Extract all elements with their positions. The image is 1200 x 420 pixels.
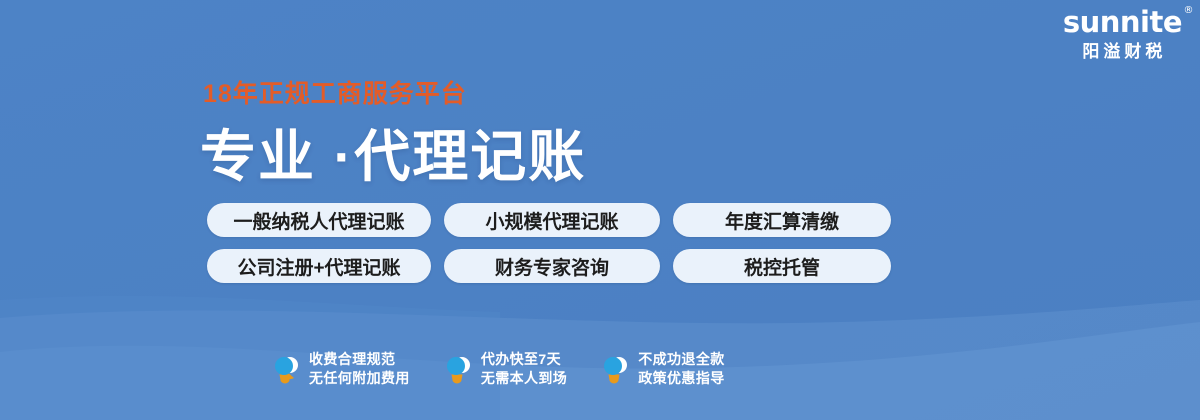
service-pill-row: 公司注册+代理记账 财务专家咨询 税控托管 xyxy=(207,249,904,283)
logo-wordmark-text: sunnite xyxy=(1063,5,1182,39)
feature-line-1: 代办快至7天 xyxy=(481,350,567,369)
feature-line-1: 不成功退全款 xyxy=(638,350,724,369)
hero-headline: 专业 ·代理记账 xyxy=(200,112,586,193)
feature-line-1: 收费合理规范 xyxy=(309,350,410,369)
service-pill[interactable]: 税控托管 xyxy=(673,249,891,283)
badge-check-icon xyxy=(272,354,300,384)
service-pill[interactable]: 小规模代理记账 xyxy=(444,203,660,237)
feature-text: 不成功退全款 政策优惠指导 xyxy=(638,350,724,388)
promo-banner: sunnite ® 阳溢财税 18年正规工商服务平台 专业 ·代理记账 一般纳税… xyxy=(0,0,1200,420)
service-pill[interactable]: 年度汇算清缴 xyxy=(673,203,891,237)
feature-text: 收费合理规范 无任何附加费用 xyxy=(309,350,410,388)
service-pill[interactable]: 公司注册+代理记账 xyxy=(207,249,431,283)
feature-text: 代办快至7天 无需本人到场 xyxy=(481,350,567,388)
service-pill-grid: 一般纳税人代理记账 小规模代理记账 年度汇算清缴 公司注册+代理记账 财务专家咨… xyxy=(207,203,904,283)
registered-trademark-icon: ® xyxy=(1184,6,1194,16)
service-pill[interactable]: 一般纳税人代理记账 xyxy=(207,203,431,237)
badge-check-icon xyxy=(601,354,629,384)
badge-check-icon xyxy=(444,354,472,384)
service-pill[interactable]: 财务专家咨询 xyxy=(444,249,660,283)
feature-item: 收费合理规范 无任何附加费用 xyxy=(272,350,410,388)
feature-line-2: 无需本人到场 xyxy=(481,369,567,388)
hero-kicker: 18年正规工商服务平台 xyxy=(203,74,467,110)
feature-item: 不成功退全款 政策优惠指导 xyxy=(601,350,724,388)
brand-logo[interactable]: sunnite ® 阳溢财税 xyxy=(1063,8,1182,60)
feature-line-2: 政策优惠指导 xyxy=(638,369,724,388)
service-pill-row: 一般纳税人代理记账 小规模代理记账 年度汇算清缴 xyxy=(207,203,904,237)
feature-line-2: 无任何附加费用 xyxy=(309,369,410,388)
logo-wordmark: sunnite ® xyxy=(1063,8,1182,37)
logo-chinese-name: 阳溢财税 xyxy=(1063,43,1182,60)
feature-item: 代办快至7天 无需本人到场 xyxy=(444,350,567,388)
feature-strip: 收费合理规范 无任何附加费用 代办快至7天 无需本人到场 xyxy=(272,350,759,388)
